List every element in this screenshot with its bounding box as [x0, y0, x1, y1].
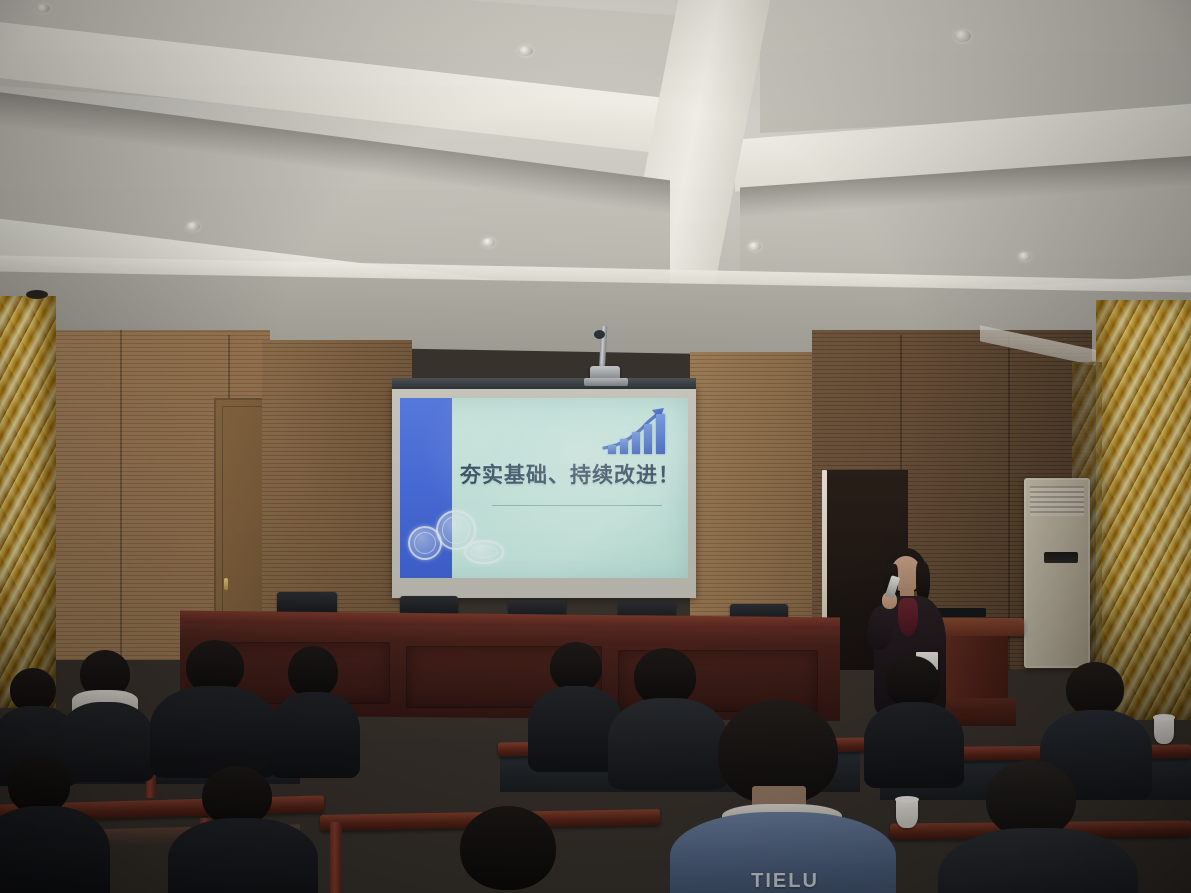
presentation-slide: 夯实基础、持续改进！ [400, 398, 688, 578]
audience-person-2 [56, 650, 156, 770]
audience-person-9-body [0, 806, 110, 893]
audience-person-11-head [202, 766, 272, 826]
audience-person-12-body [938, 828, 1138, 893]
audience-person-11 [168, 766, 318, 893]
ac-vent [1030, 486, 1084, 516]
wall-seam-left-1 [120, 330, 122, 660]
audience-person-4-head [288, 646, 338, 698]
projector-mount-plate [584, 378, 628, 386]
downlight-5 [482, 238, 495, 247]
audience-person-10: TIELU [660, 700, 910, 893]
audience-person-13-head [460, 806, 556, 890]
downlight-6 [748, 242, 761, 251]
ac-display-panel[interactable] [1044, 552, 1078, 563]
audience-person-9 [0, 756, 110, 893]
slide-glare [400, 398, 688, 578]
audience-person-10-shirt-text: TIELU [660, 870, 910, 893]
audience-person-4 [268, 646, 360, 770]
audience-person-3-body [150, 686, 278, 778]
downlight-2 [518, 46, 533, 56]
doorway-light-strip [822, 470, 827, 620]
audience-person-12 [940, 760, 1130, 893]
door-left-handle[interactable] [224, 578, 228, 590]
downlight-1 [36, 4, 50, 13]
paper-cup-2 [1154, 716, 1174, 744]
conference-room-photo: 夯实基础、持续改进！ [0, 0, 1191, 893]
audience-person-8-head [1066, 662, 1124, 716]
downlight-4 [186, 222, 200, 231]
speaker-scarf [898, 598, 918, 636]
audience-person-5-head [550, 642, 602, 692]
paper-cup-1 [896, 798, 918, 828]
air-conditioner-unit [1024, 478, 1090, 668]
paper-cup-1-lip [895, 796, 919, 803]
audience-person-12-head [986, 760, 1076, 838]
audience-person-11-body [168, 818, 318, 893]
downlight-7 [1018, 252, 1031, 261]
audience-person-13 [430, 806, 610, 893]
audience-person-3 [150, 640, 278, 770]
wall-wood-center-left [262, 340, 412, 620]
projection-screen-top-bar [392, 378, 696, 389]
projector-mount-knob [594, 330, 605, 339]
paper-cup-2-lip [1153, 714, 1175, 721]
curtain-rod-left [26, 290, 48, 299]
downlight-3 [954, 30, 971, 42]
bench-post-row2-center [330, 822, 342, 893]
